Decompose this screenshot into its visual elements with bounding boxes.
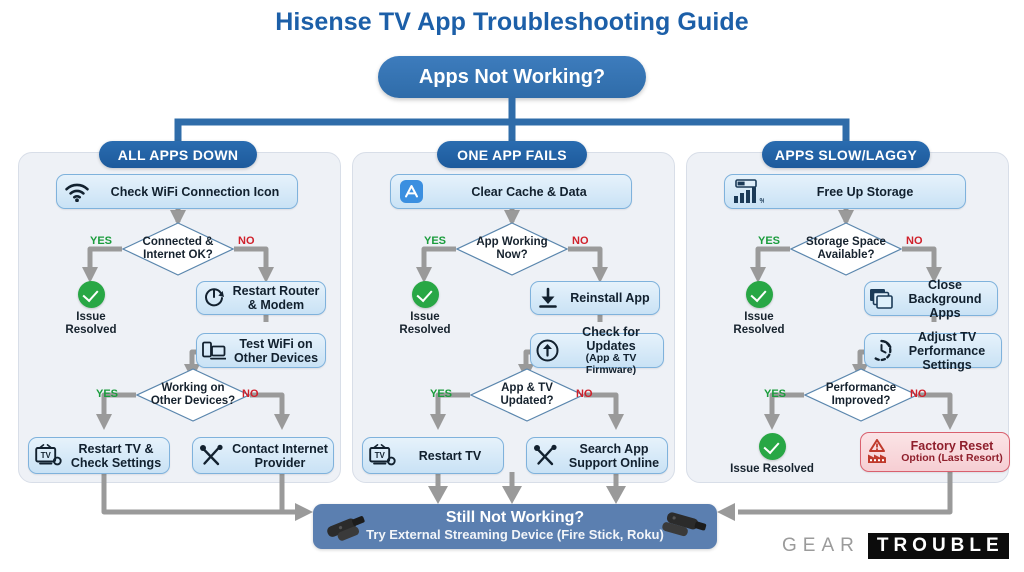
action-label: Contact InternetProvider — [231, 442, 333, 470]
decision-label: App & TVUpdated? — [470, 368, 584, 422]
edge-label-no: NO — [238, 235, 255, 247]
bottom-callout[interactable]: Still Not Working? Try External Streamin… — [313, 504, 717, 549]
action-search-app-support[interactable]: Search AppSupport Online — [526, 437, 668, 474]
brand-part-trouble: TROUBLE — [868, 533, 1009, 559]
action-label: Reinstall App — [565, 291, 659, 305]
decision-label: Connected &Internet OK? — [122, 222, 234, 276]
tv-settings-icon: TV — [363, 444, 401, 467]
power-refresh-icon — [197, 287, 231, 309]
action-label: Restart TV — [401, 449, 503, 463]
action-label: Search AppSupport Online — [565, 442, 667, 470]
outcome-issue-resolved-3: IssueResolved — [730, 281, 788, 337]
svg-text:%: % — [760, 198, 765, 205]
action-contact-internet-provider[interactable]: Contact InternetProvider — [192, 437, 334, 474]
action-test-wifi-other-devices[interactable]: Test WiFi onOther Devices — [196, 333, 326, 368]
decision-working-other-devices[interactable]: Working onOther Devices? — [136, 368, 250, 422]
decision-label: PerformanceImproved? — [804, 368, 918, 422]
edge-label-yes: YES — [96, 388, 118, 400]
svg-text:TV: TV — [374, 451, 385, 460]
column-header-all-apps-down[interactable]: ALL APPS DOWN — [99, 141, 257, 168]
bottom-callout-title: Still Not Working? — [446, 510, 584, 527]
outcome-issue-resolved-4: Issue Resolved — [714, 433, 830, 476]
svg-text:TV: TV — [40, 451, 51, 460]
action-label: Factory ResetOption (Last Resort) — [899, 439, 1009, 465]
windows-stack-icon — [865, 288, 897, 310]
bottom-callout-subtitle: Try External Streaming Device (Fire Stic… — [366, 528, 664, 543]
outcome-issue-resolved-2: IssueResolved — [396, 281, 454, 337]
decision-connected-internet[interactable]: Connected &Internet OK? — [122, 222, 234, 276]
edge-label-yes: YES — [758, 235, 780, 247]
action-check-for-updates[interactable]: Check for Updates(App & TV Firmware) — [530, 333, 664, 368]
storage-bars-icon: % — [725, 179, 769, 205]
decision-label: App WorkingNow? — [456, 222, 568, 276]
edge-label-yes: YES — [764, 388, 786, 400]
outcome-issue-resolved-1: IssueResolved — [62, 281, 120, 337]
action-label: Clear Cache & Data — [431, 185, 631, 199]
action-check-wifi[interactable]: Check WiFi Connection Icon — [56, 174, 298, 209]
check-circle-icon — [412, 281, 439, 308]
action-adjust-tv-performance[interactable]: Adjust TVPerformance Settings — [864, 333, 1002, 368]
decision-app-tv-updated[interactable]: App & TVUpdated? — [470, 368, 584, 422]
wifi-icon — [57, 182, 97, 202]
tv-settings-icon: TV — [29, 444, 67, 467]
factory-warning-icon — [861, 439, 899, 465]
decision-storage-space-available[interactable]: Storage SpaceAvailable? — [790, 222, 902, 276]
edge-label-no: NO — [906, 235, 923, 247]
action-reinstall-app[interactable]: Reinstall App — [530, 281, 660, 315]
action-label: Free Up Storage — [769, 185, 965, 199]
action-label: Restart TV &Check Settings — [67, 442, 169, 470]
action-restart-tv-check-settings[interactable]: TV Restart TV &Check Settings — [28, 437, 170, 474]
infographic-canvas: Hisense TV App Troubleshooting Guide App… — [0, 0, 1024, 572]
action-label: Check WiFi Connection Icon — [97, 185, 297, 199]
edge-label-yes: YES — [424, 235, 446, 247]
brand-logo: GEAR TROUBLE — [782, 533, 1009, 559]
action-close-background-apps[interactable]: Close BackgroundApps — [864, 281, 998, 316]
column-header-one-app-fails[interactable]: ONE APP FAILS — [437, 141, 587, 168]
clock-refresh-icon — [865, 339, 897, 362]
action-restart-router[interactable]: Restart Router& Modem — [196, 281, 326, 315]
edge-label-yes: YES — [430, 388, 452, 400]
edge-label-no: NO — [242, 388, 259, 400]
action-factory-reset[interactable]: Factory ResetOption (Last Resort) — [860, 432, 1010, 472]
action-label: Test WiFi onOther Devices — [231, 337, 325, 365]
action-label: Adjust TVPerformance Settings — [897, 330, 1001, 372]
edge-label-no: NO — [572, 235, 589, 247]
column-header-apps-slow[interactable]: APPS SLOW/LAGGY — [762, 141, 930, 168]
action-label: Close BackgroundApps — [897, 278, 997, 320]
column-header-label: ONE APP FAILS — [457, 147, 567, 163]
tools-icon — [193, 444, 231, 467]
action-label: Restart Router& Modem — [231, 284, 325, 312]
decision-performance-improved[interactable]: PerformanceImproved? — [804, 368, 918, 422]
decision-label: Working onOther Devices? — [136, 368, 250, 422]
column-header-label: ALL APPS DOWN — [118, 147, 239, 163]
action-free-up-storage[interactable]: % Free Up Storage — [724, 174, 966, 209]
tools-icon — [527, 444, 565, 467]
decision-app-working-now[interactable]: App WorkingNow? — [456, 222, 568, 276]
edge-label-no: NO — [576, 388, 593, 400]
streaming-stick-icon-right — [655, 510, 713, 544]
brand-part-gear: GEAR — [782, 535, 860, 557]
action-restart-tv[interactable]: TV Restart TV — [362, 437, 504, 474]
streaming-stick-icon-left — [321, 510, 379, 544]
download-icon — [531, 287, 565, 309]
action-clear-cache-data[interactable]: Clear Cache & Data — [390, 174, 632, 209]
edge-label-no: NO — [910, 388, 927, 400]
arrow-up-circle-icon — [531, 339, 563, 362]
edge-label-yes: YES — [90, 235, 112, 247]
app-store-icon — [391, 179, 431, 204]
check-circle-icon — [759, 433, 786, 460]
devices-icon — [197, 341, 231, 361]
column-header-label: APPS SLOW/LAGGY — [775, 147, 917, 163]
decision-label: Storage SpaceAvailable? — [790, 222, 902, 276]
check-circle-icon — [746, 281, 773, 308]
check-circle-icon — [78, 281, 105, 308]
